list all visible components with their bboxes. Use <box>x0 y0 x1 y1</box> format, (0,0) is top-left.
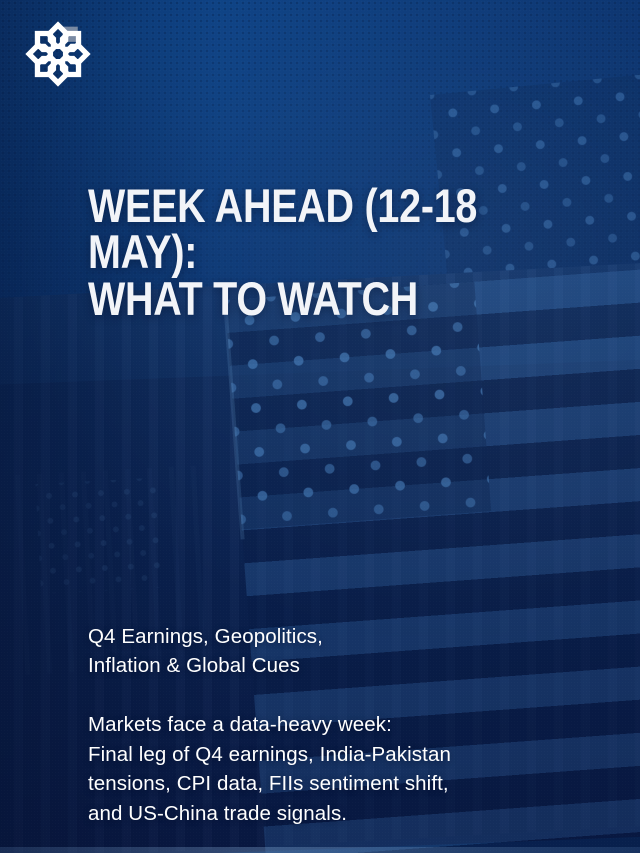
week-ahead-story-card: WEEK AHEAD (12-18 MAY): WHAT TO WATCH Q4… <box>0 0 640 853</box>
page-title: WEEK AHEAD (12-18 MAY): WHAT TO WATCH <box>88 183 508 322</box>
body-description: Markets face a data-heavy week: Final le… <box>88 710 558 829</box>
brand-logo[interactable] <box>20 16 96 92</box>
subheadline: Q4 Earnings, Geopolitics, Inflation & Gl… <box>88 622 558 680</box>
content-layer: WEEK AHEAD (12-18 MAY): WHAT TO WATCH Q4… <box>0 0 640 853</box>
